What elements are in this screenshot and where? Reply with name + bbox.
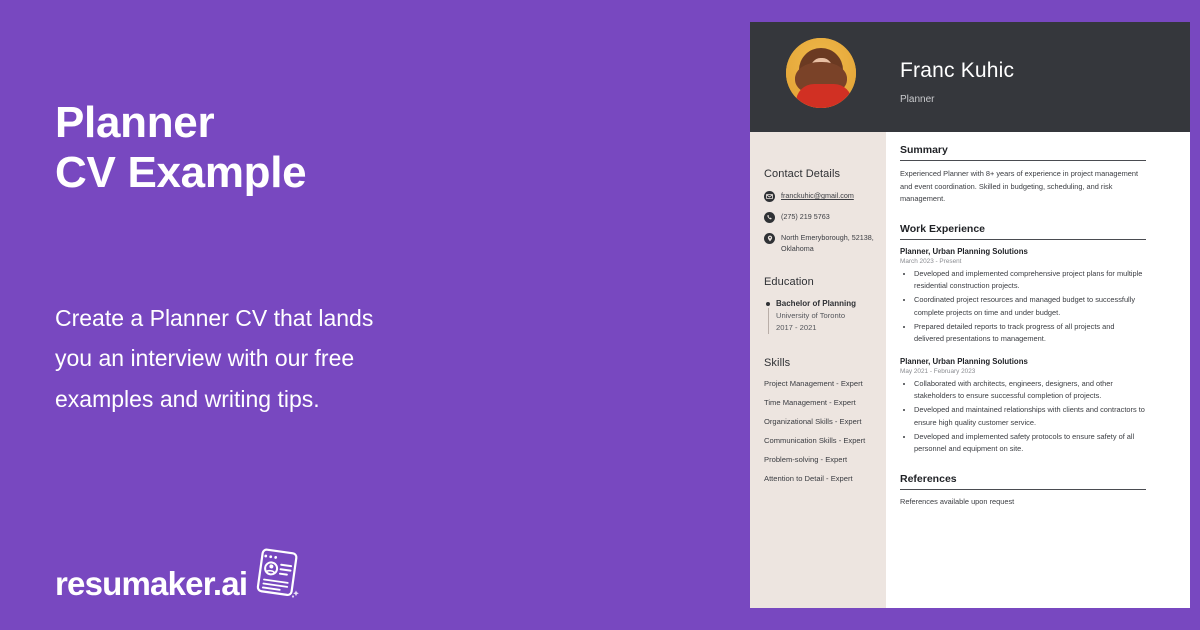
promo-subtitle-line3: examples and writing tips. bbox=[55, 379, 475, 419]
skill-item: Attention to Detail - Expert bbox=[764, 474, 876, 483]
contact-address-line1: North Emeryborough, 52138, bbox=[781, 233, 874, 242]
work-experience-heading: Work Experience bbox=[900, 223, 1146, 240]
cv-main-column: Summary Experienced Planner with 8+ year… bbox=[900, 144, 1146, 506]
phone-icon bbox=[764, 212, 775, 223]
page-title: Planner CV Example bbox=[55, 98, 695, 198]
job-bullet: Developed and implemented safety protoco… bbox=[914, 431, 1146, 456]
skills-heading: Skills bbox=[764, 357, 876, 369]
job-entry: Planner, Urban Planning Solutions March … bbox=[900, 247, 1146, 346]
contact-address: North Emeryborough, 52138, Oklahoma bbox=[781, 232, 874, 254]
location-pin-icon bbox=[764, 233, 775, 244]
job-bullets: Collaborated with architects, engineers,… bbox=[900, 378, 1146, 456]
education-bullet-marker bbox=[764, 298, 776, 334]
skill-item: Organizational Skills - Expert bbox=[764, 417, 876, 426]
education-heading: Education bbox=[764, 276, 876, 288]
references-heading: References bbox=[900, 473, 1146, 490]
summary-text: Experienced Planner with 8+ years of exp… bbox=[900, 168, 1146, 206]
skill-item: Time Management - Expert bbox=[764, 398, 876, 407]
promo-panel: Planner CV Example Create a Planner CV t… bbox=[0, 0, 740, 630]
skill-item: Problem-solving - Expert bbox=[764, 455, 876, 464]
promo-title-line1: Planner bbox=[55, 98, 214, 147]
cv-candidate-name: Franc Kuhic bbox=[900, 59, 1014, 83]
promo-subtitle-line2: you an interview with our free bbox=[55, 338, 475, 378]
work-experience-section: Work Experience Planner, Urban Planning … bbox=[900, 223, 1146, 456]
job-entry: Planner, Urban Planning Solutions May 20… bbox=[900, 357, 1146, 456]
skill-item: Project Management - Expert bbox=[764, 379, 876, 388]
resume-document-icon bbox=[249, 545, 301, 604]
education-years: 2017 - 2021 bbox=[776, 322, 876, 334]
job-bullet: Coordinated project resources and manage… bbox=[914, 294, 1146, 319]
cv-preview-card[interactable]: Franc Kuhic Planner Contact Details fran… bbox=[750, 22, 1190, 608]
job-title: Planner, Urban Planning Solutions bbox=[900, 357, 1146, 366]
cv-sidebar: Contact Details franckuhic@gmail.com (27… bbox=[750, 132, 886, 608]
job-bullet: Developed and maintained relationships w… bbox=[914, 404, 1146, 429]
job-bullet: Collaborated with architects, engineers,… bbox=[914, 378, 1146, 403]
education-school: University of Toronto bbox=[776, 310, 876, 322]
job-bullet: Developed and implemented comprehensive … bbox=[914, 268, 1146, 293]
skills-section: Skills Project Management - Expert Time … bbox=[764, 357, 876, 483]
cv-candidate-role: Planner bbox=[900, 94, 934, 105]
education-section: Education Bachelor of Planning Universit… bbox=[764, 276, 876, 334]
contact-address-line2: Oklahoma bbox=[781, 244, 814, 253]
promo-subtitle: Create a Planner CV that lands you an in… bbox=[55, 298, 475, 419]
contact-phone: (275) 219 5763 bbox=[781, 211, 830, 222]
references-section: References References available upon req… bbox=[900, 473, 1146, 506]
contact-details-heading: Contact Details bbox=[764, 168, 876, 180]
job-dates: March 2023 - Present bbox=[900, 258, 1146, 265]
summary-heading: Summary bbox=[900, 144, 1146, 161]
contact-email: franckuhic@gmail.com bbox=[781, 190, 854, 201]
job-dates: May 2021 - February 2023 bbox=[900, 368, 1146, 375]
avatar bbox=[786, 38, 856, 108]
skill-item: Communication Skills - Expert bbox=[764, 436, 876, 445]
promo-subtitle-line1: Create a Planner CV that lands bbox=[55, 298, 475, 338]
education-degree: Bachelor of Planning bbox=[776, 298, 876, 310]
summary-section: Summary Experienced Planner with 8+ year… bbox=[900, 144, 1146, 206]
promo-title-line2: CV Example bbox=[55, 148, 695, 198]
job-title: Planner, Urban Planning Solutions bbox=[900, 247, 1146, 256]
job-bullets: Developed and implemented comprehensive … bbox=[900, 268, 1146, 346]
promo-banner: Planner CV Example Create a Planner CV t… bbox=[0, 0, 1200, 630]
resumaker-logo[interactable]: resumaker.ai bbox=[55, 545, 301, 600]
job-bullet: Prepared detailed reports to track progr… bbox=[914, 321, 1146, 346]
email-icon bbox=[764, 191, 775, 202]
references-text: References available upon request bbox=[900, 497, 1146, 506]
contact-address-row[interactable]: North Emeryborough, 52138, Oklahoma bbox=[764, 232, 876, 254]
contact-phone-row[interactable]: (275) 219 5763 bbox=[764, 211, 876, 223]
contact-email-row[interactable]: franckuhic@gmail.com bbox=[764, 190, 876, 202]
education-item: Bachelor of Planning University of Toron… bbox=[764, 298, 876, 334]
logo-wordmark: resumaker.ai bbox=[55, 567, 247, 600]
